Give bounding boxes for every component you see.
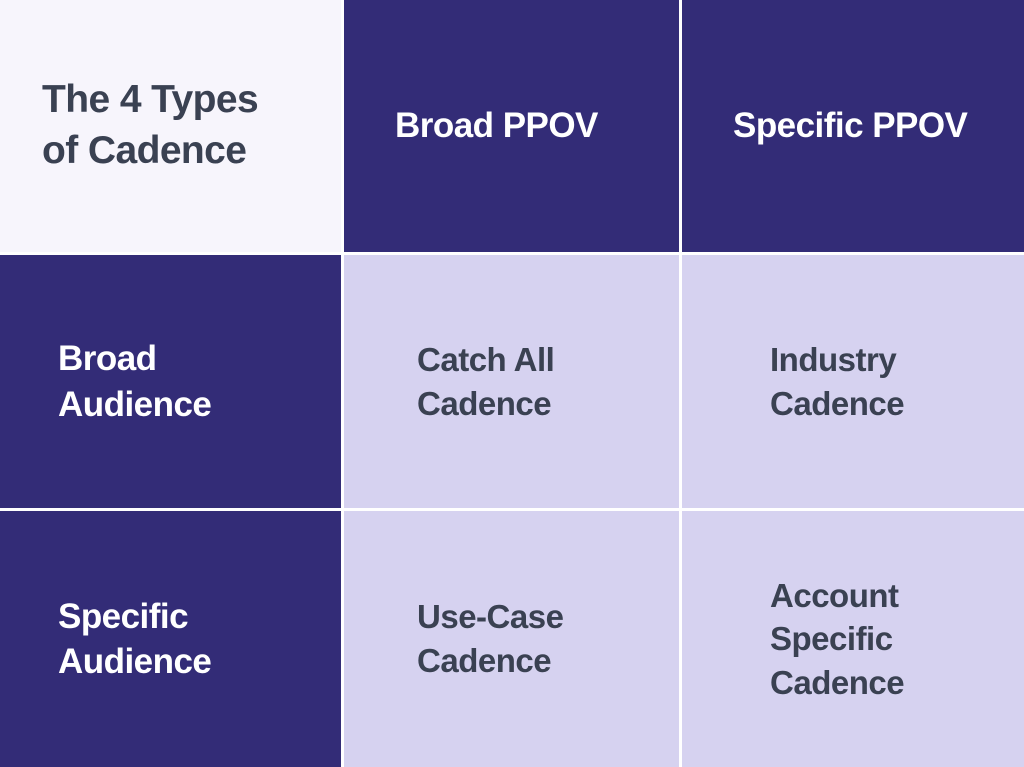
column-header-label: Specific PPOV: [682, 103, 1024, 149]
row-header-label: Broad Audience: [0, 336, 341, 427]
matrix-cell-label: Catch All Cadence: [344, 338, 679, 425]
cadence-matrix: The 4 Types of Cadence Broad PPOV Specif…: [0, 0, 1024, 767]
matrix-title-cell: The 4 Types of Cadence: [0, 0, 341, 252]
column-header-broad-ppov: Broad PPOV: [341, 0, 679, 252]
row-header-specific-audience: Specific Audience: [0, 508, 341, 767]
column-header-label: Broad PPOV: [344, 103, 679, 149]
matrix-cell-label: Account Specific Cadence: [682, 574, 1024, 705]
row-header-broad-audience: Broad Audience: [0, 252, 341, 508]
matrix-cell-use-case-cadence: Use-Case Cadence: [341, 508, 679, 767]
column-header-specific-ppov: Specific PPOV: [679, 0, 1024, 252]
row-header-label: Specific Audience: [0, 594, 341, 685]
matrix-cell-label: Industry Cadence: [682, 338, 1024, 425]
matrix-cell-account-specific-cadence: Account Specific Cadence: [679, 508, 1024, 767]
matrix-cell-label: Use-Case Cadence: [344, 595, 679, 682]
page-title: The 4 Types of Cadence: [0, 75, 341, 176]
matrix-cell-industry-cadence: Industry Cadence: [679, 252, 1024, 508]
matrix-cell-catch-all-cadence: Catch All Cadence: [341, 252, 679, 508]
